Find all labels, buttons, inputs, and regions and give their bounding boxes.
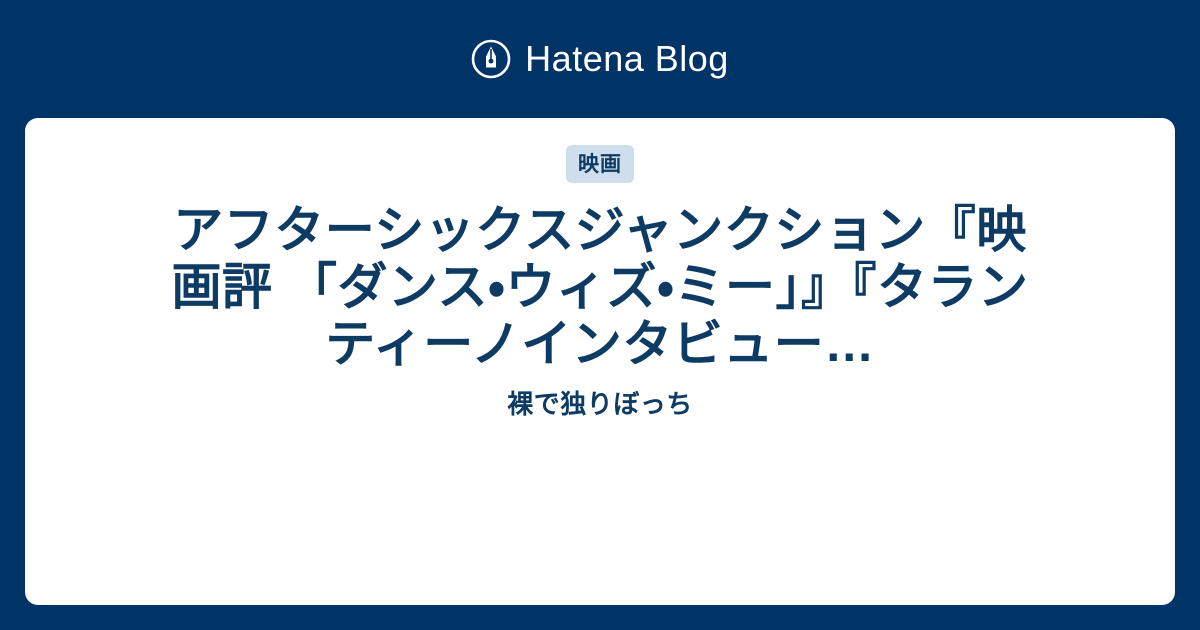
entry-title[interactable]: アフターシックスジャンクション『映画評 「ダンス・ウィズ・ミー」』『タランティー… xyxy=(170,202,1030,373)
category-tag-badge[interactable]: 映画 xyxy=(566,145,634,183)
entry-card: 映画 アフターシックスジャンクション『映画評 「ダンス・ウィズ・ミー」』『タラン… xyxy=(25,118,1175,605)
service-name: Hatena Blog xyxy=(525,41,729,77)
hatena-blog-header: Hatena Blog xyxy=(0,0,1200,118)
pen-nib-circle-icon xyxy=(471,39,511,79)
blog-name[interactable]: 裸で独りぼっち xyxy=(507,389,693,420)
